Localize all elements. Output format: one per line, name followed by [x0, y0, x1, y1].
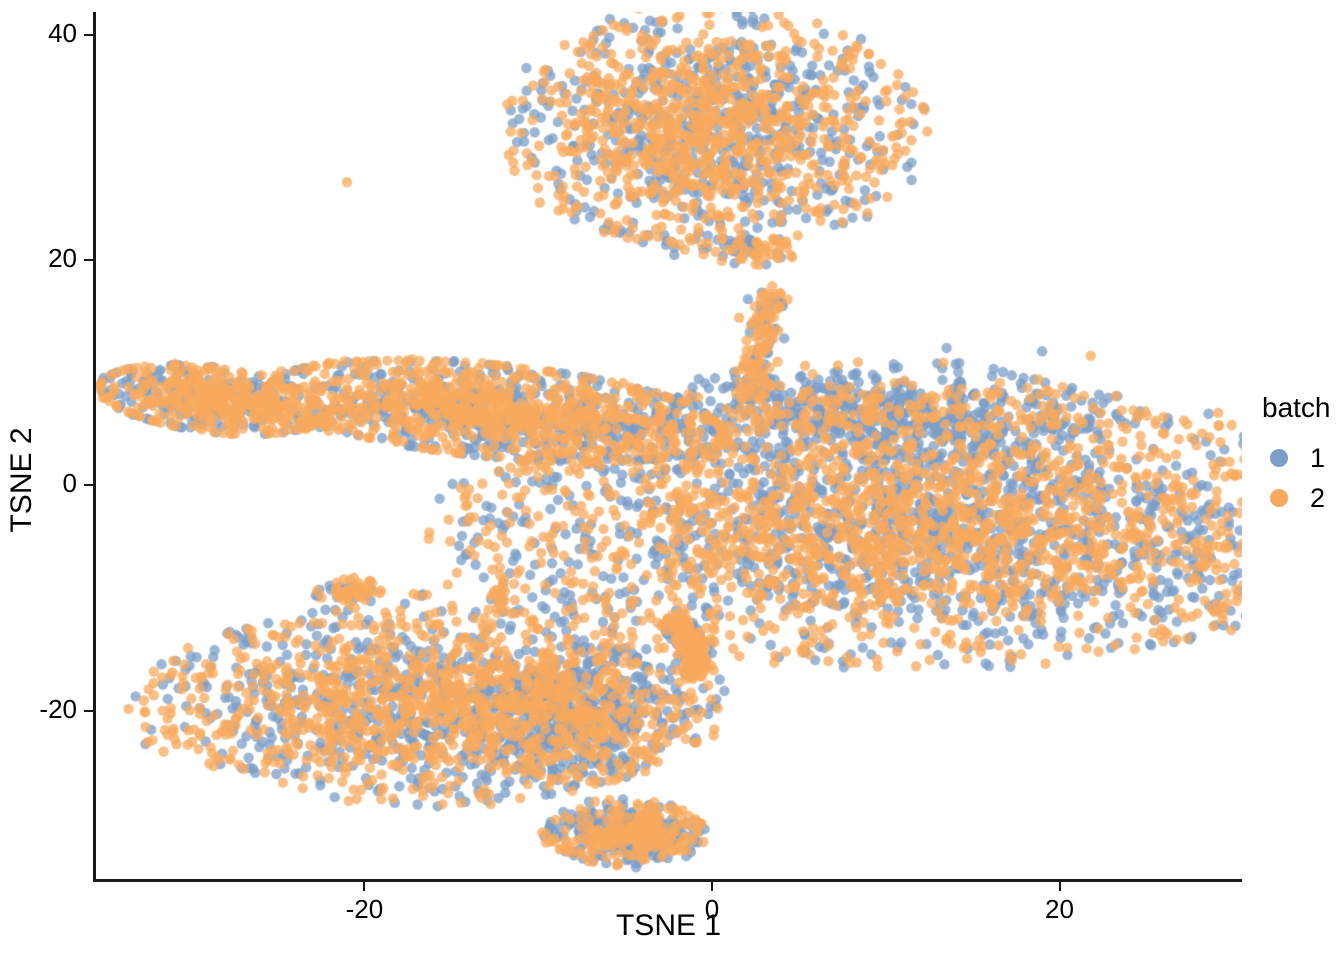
legend-dot-icon [1262, 489, 1296, 507]
y-tick-mark [84, 259, 93, 261]
legend-title: batch [1262, 392, 1342, 424]
y-tick-mark [84, 34, 93, 36]
legend-item-2[interactable]: 2 [1262, 478, 1342, 518]
legend-items: 12 [1262, 438, 1342, 518]
y-tick-label: 0 [63, 468, 77, 499]
x-axis-title: TSNE 1 [95, 906, 1242, 946]
x-tick-mark [363, 882, 365, 891]
tsne-scatter-plot: TSNE 2 40200-20 -20020 TSNE 1 batch 12 [0, 0, 1344, 960]
y-tick-label: 20 [48, 243, 77, 274]
legend: batch 12 [1262, 392, 1342, 518]
scatter-points-canvas [95, 12, 1242, 880]
y-axis-title: TSNE 2 [0, 0, 44, 960]
y-tick-label: -20 [39, 694, 77, 725]
legend-label: 2 [1310, 483, 1325, 514]
y-tick-label: 40 [48, 18, 77, 49]
y-axis-line [93, 12, 96, 882]
legend-item-1[interactable]: 1 [1262, 438, 1342, 478]
legend-label: 1 [1310, 443, 1325, 474]
x-axis-line [95, 879, 1242, 882]
x-tick-mark [1059, 882, 1061, 891]
plot-panel [95, 12, 1242, 880]
x-tick-mark [711, 882, 713, 891]
y-tick-mark [84, 710, 93, 712]
legend-dot-icon [1262, 449, 1296, 467]
y-tick-mark [84, 484, 93, 486]
